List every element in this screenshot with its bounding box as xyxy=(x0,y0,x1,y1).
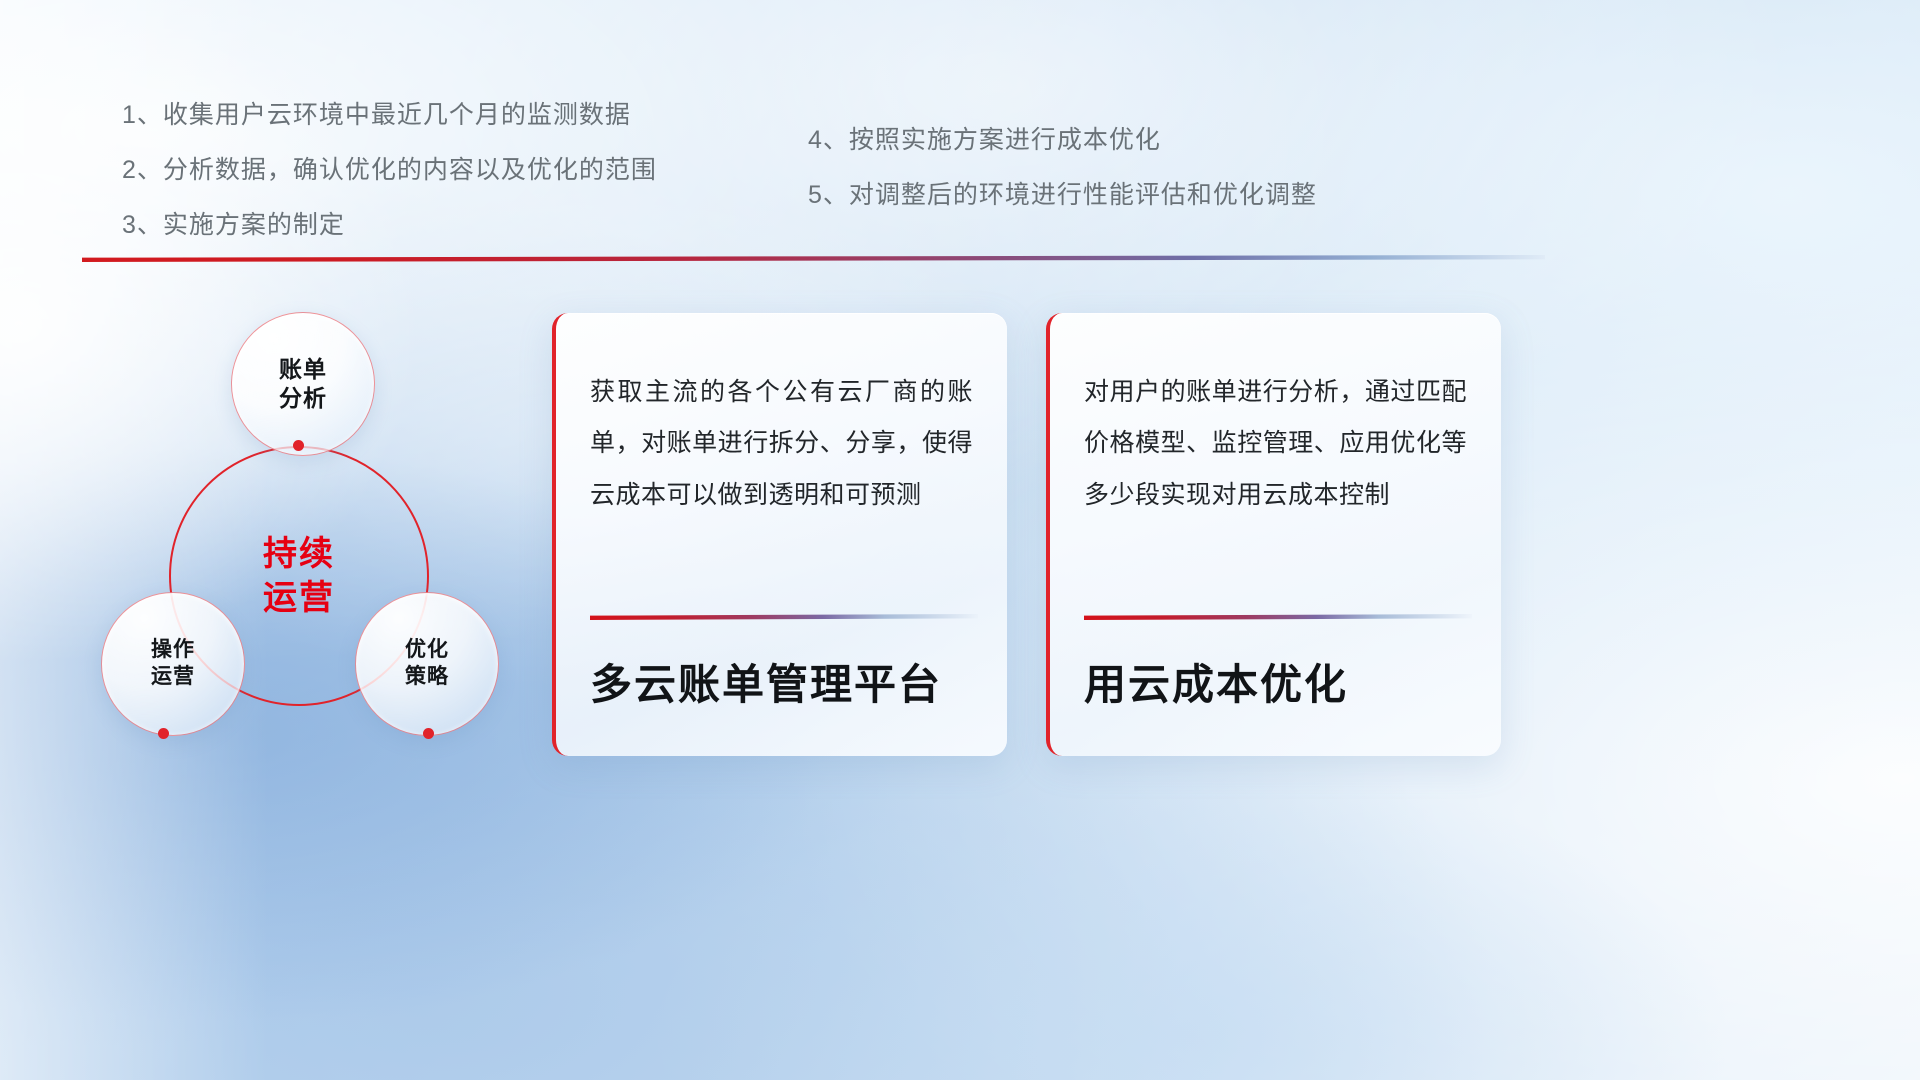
step-item-5: 5、对调整后的环境进行性能评估和优化调整 xyxy=(808,183,1317,208)
steps-list-left: 1、收集用户云环境中最近几个月的监测数据 2、分析数据，确认优化的内容以及优化的… xyxy=(122,103,657,268)
bubble-operation[interactable]: 操作 运营 xyxy=(101,592,245,736)
card-multi-cloud-bill-platform[interactable]: 获取主流的各个公有云厂商的账单，对账单进行拆分、分享，使得云成本可以做到透明和可… xyxy=(552,313,1007,756)
node-dot-top-icon xyxy=(293,440,304,451)
node-dot-right-icon xyxy=(423,728,434,739)
step-item-4: 4、按照实施方案进行成本优化 xyxy=(808,128,1317,153)
step-item-1: 1、收集用户云环境中最近几个月的监测数据 xyxy=(122,103,657,128)
bubble-optimization-strategy[interactable]: 优化 策略 xyxy=(355,592,499,736)
step-item-2: 2、分析数据，确认优化的内容以及优化的范围 xyxy=(122,158,657,183)
card-2-body: 对用户的账单进行分析，通过匹配价格模型、监控管理、应用优化等多少段实现对用云成本… xyxy=(1084,367,1467,521)
card-1-body: 获取主流的各个公有云厂商的账单，对账单进行拆分、分享，使得云成本可以做到透明和可… xyxy=(590,367,973,521)
card-cloud-cost-optimization[interactable]: 对用户的账单进行分析，通过匹配价格模型、监控管理、应用优化等多少段实现对用云成本… xyxy=(1046,313,1501,756)
steps-list-right: 4、按照实施方案进行成本优化 5、对调整后的环境进行性能评估和优化调整 xyxy=(808,128,1317,238)
card-2-title: 用云成本优化 xyxy=(1084,651,1348,712)
bubble-bill-analysis-line2: 分析 xyxy=(279,384,327,413)
center-label-line1: 持续 xyxy=(263,532,335,576)
center-label-line2: 运营 xyxy=(263,576,335,620)
step-item-3: 3、实施方案的制定 xyxy=(122,213,657,238)
bubble-bill-analysis-line1: 账单 xyxy=(279,355,327,384)
bubble-operation-line2: 运营 xyxy=(151,664,195,691)
bubble-bill-analysis[interactable]: 账单 分析 xyxy=(231,312,375,456)
bubble-optimization-strategy-line2: 策略 xyxy=(405,664,449,691)
bubble-operation-line1: 操作 xyxy=(151,637,195,664)
card-1-accent-rule xyxy=(590,614,978,620)
continuous-operation-diagram: 持续 运营 账单 分析 操作 运营 优化 策略 xyxy=(85,300,525,760)
card-2-accent-rule xyxy=(1084,614,1472,620)
bubble-optimization-strategy-line1: 优化 xyxy=(405,637,449,664)
node-dot-left-icon xyxy=(158,728,169,739)
card-1-title: 多云账单管理平台 xyxy=(590,651,942,712)
